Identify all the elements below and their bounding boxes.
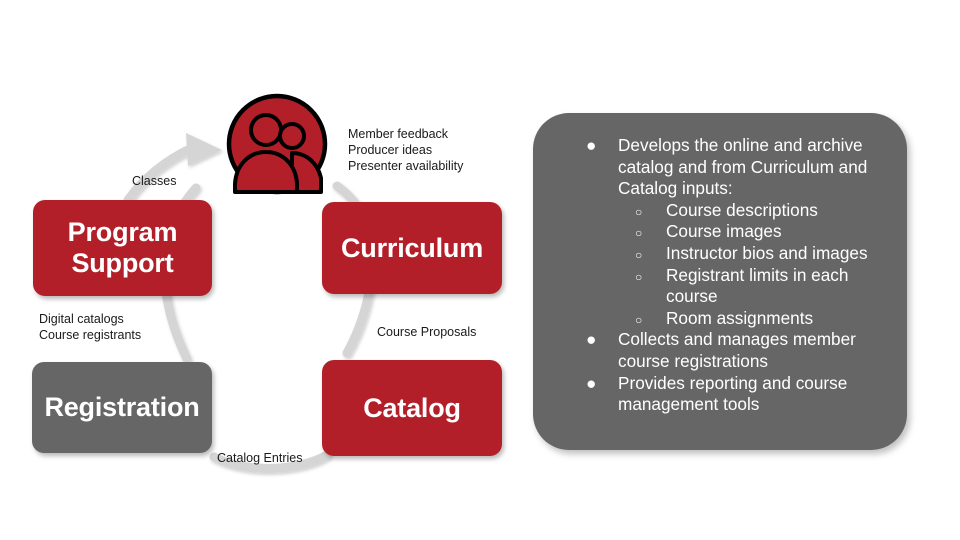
bullet-item-text: Collects and manages member course regis… xyxy=(618,329,856,371)
bullet-filled-icon: ● xyxy=(551,373,618,395)
bullet-hollow-icon: ○ xyxy=(551,243,666,267)
node-curriculum-label: Curriculum xyxy=(341,233,483,264)
node-catalog[interactable]: Catalog xyxy=(322,360,502,456)
bullet-hollow-icon: ○ xyxy=(551,221,666,245)
bullet-filled-icon: ● xyxy=(551,329,618,351)
edge-label-catalog-entries: Catalog Entries xyxy=(217,450,302,466)
description-panel: ●Develops the online and archive catalog… xyxy=(533,113,907,450)
bullet-item-level-2: ○Instructor bios and images xyxy=(551,243,889,265)
bullet-item-text: Develops the online and archive catalog … xyxy=(618,135,867,198)
edge-label-classes: Classes xyxy=(132,173,176,189)
bullet-item-text: Instructor bios and images xyxy=(666,243,868,263)
bullet-filled-icon: ● xyxy=(551,135,618,157)
bullet-item-level-1: ●Collects and manages member course regi… xyxy=(551,329,889,372)
bullet-item-level-2: ○Course descriptions xyxy=(551,200,889,222)
bullet-item-text: Course descriptions xyxy=(666,200,818,220)
bullet-item-level-2: ○Course images xyxy=(551,221,889,243)
bullet-item-level-1: ●Develops the online and archive catalog… xyxy=(551,135,889,200)
bullet-hollow-icon: ○ xyxy=(551,308,666,332)
bullet-item-level-2: ○Room assignments xyxy=(551,308,889,330)
bullet-item-text: Provides reporting and course management… xyxy=(618,373,847,415)
members-people-icon xyxy=(225,92,329,196)
bullet-item-level-1: ●Provides reporting and course managemen… xyxy=(551,373,889,416)
bullet-hollow-icon: ○ xyxy=(551,200,666,224)
node-program-support[interactable]: Program Support xyxy=(33,200,212,296)
edge-label-digital-catalogs: Digital catalogs Course registrants xyxy=(39,311,141,343)
node-registration[interactable]: Registration xyxy=(32,362,212,453)
bullet-item-text: Room assignments xyxy=(666,308,813,328)
bullet-item-text: Registrant limits in each course xyxy=(666,265,848,307)
node-catalog-label: Catalog xyxy=(363,393,461,424)
bullet-item-level-2: ○Registrant limits in each course xyxy=(551,265,889,308)
node-registration-label: Registration xyxy=(44,392,199,423)
edge-label-course-proposals: Course Proposals xyxy=(377,324,476,340)
bullet-item-text: Course images xyxy=(666,221,782,241)
edge-label-member-feedback: Member feedback Producer ideas Presenter… xyxy=(348,126,463,174)
cycle-diagram: Program Support Curriculum Catalog Regis… xyxy=(0,0,530,540)
description-bullet-list: ●Develops the online and archive catalog… xyxy=(551,135,889,416)
bullet-hollow-icon: ○ xyxy=(551,265,666,289)
node-program-support-label: Program Support xyxy=(68,217,178,279)
node-curriculum[interactable]: Curriculum xyxy=(322,202,502,294)
